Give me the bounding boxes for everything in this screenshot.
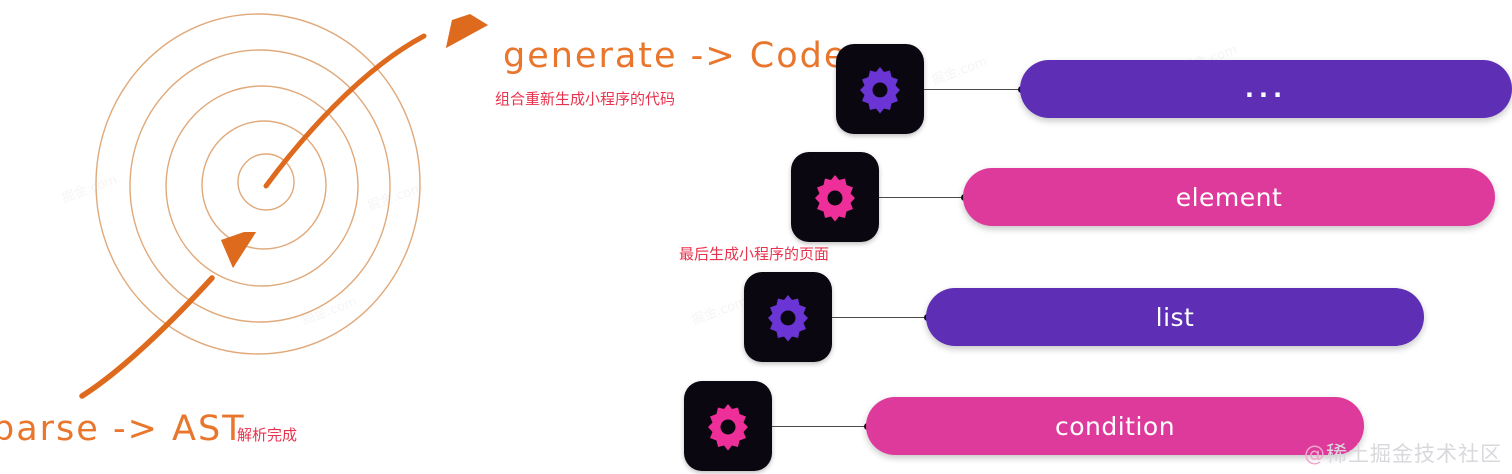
spiral-rings	[96, 14, 420, 354]
gear-box[interactable]	[791, 152, 879, 242]
node-row: element	[791, 152, 1512, 248]
spiral-svg	[0, 0, 520, 474]
gear-icon	[763, 292, 813, 342]
pill-node[interactable]: element	[963, 168, 1495, 226]
gear-icon	[855, 64, 905, 114]
node-row: list	[744, 272, 1512, 368]
outbound-arrow	[266, 14, 488, 186]
watermark-text: 稀土掘金技术社区	[1326, 442, 1502, 466]
watermark-at: @	[1304, 442, 1326, 466]
spiral-illustration	[0, 0, 520, 474]
connector-line	[832, 317, 930, 318]
parse-heading: parse -> AST	[0, 409, 246, 449]
gear-icon	[703, 401, 753, 451]
pill-node[interactable]: ...	[1020, 60, 1512, 118]
pill-label: ...	[1245, 75, 1287, 103]
site-watermark: @稀土掘金技术社区	[1304, 438, 1502, 468]
parse-annotation: 解析完成	[237, 424, 297, 445]
inbound-arrow	[82, 232, 256, 396]
connector-line	[924, 89, 1024, 90]
gear-box[interactable]	[836, 44, 924, 134]
diagram-canvas: 掘金.com 掘金.com 掘金.com 掘金.com 掘金.com 掘金.co…	[0, 0, 1512, 474]
generate-annotation: 组合重新生成小程序的代码	[495, 88, 675, 109]
generate-heading: generate -> Code	[503, 36, 847, 76]
pill-label: condition	[1055, 412, 1175, 441]
gear-box[interactable]	[684, 381, 772, 471]
connector-line	[772, 426, 870, 427]
gear-icon	[810, 172, 860, 222]
connector-line	[879, 197, 967, 198]
pill-label: element	[1176, 183, 1283, 212]
background-watermark: 掘金.com	[688, 291, 749, 329]
gear-box[interactable]	[744, 272, 832, 362]
pill-node[interactable]: list	[926, 288, 1424, 346]
pill-label: list	[1156, 303, 1195, 332]
node-row: ...	[836, 44, 1512, 140]
pill-node[interactable]: condition	[866, 397, 1364, 455]
